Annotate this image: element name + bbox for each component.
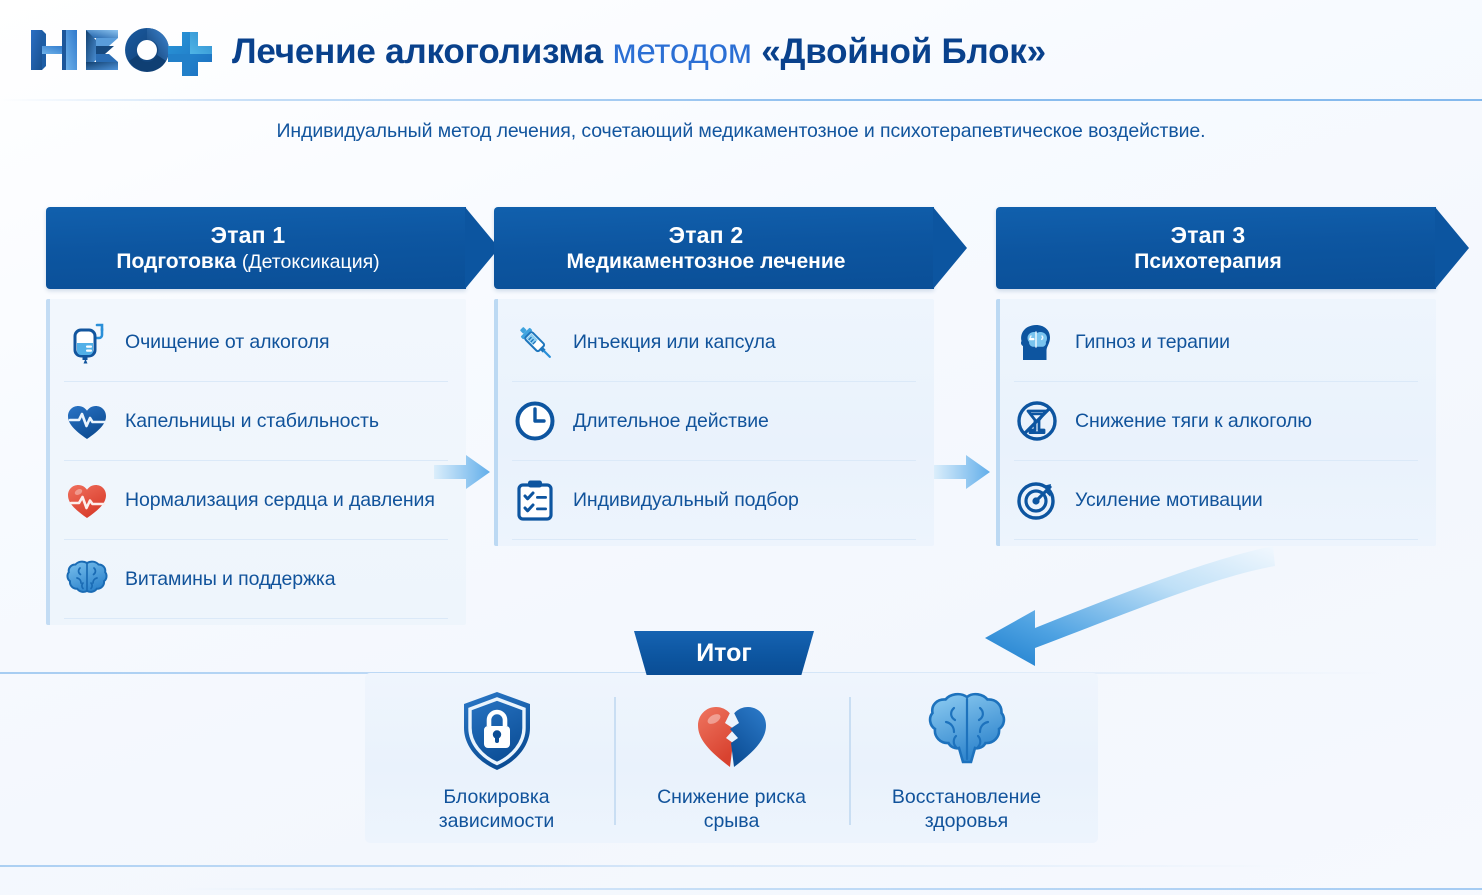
list-item[interactable]: Капельницы и стабильность (64, 382, 448, 461)
list-item-label: Усиление мотивации (1075, 489, 1263, 512)
stage-3-name: Психотерапия (1134, 249, 1281, 274)
list-item-label: Индивидуальный подбор (573, 489, 799, 512)
list-item[interactable]: Гипноз и терапии (1014, 303, 1418, 382)
list-item-label: Очищение от алкоголя (125, 331, 329, 354)
stage-1-name: Подготовка (Детоксикация) (116, 249, 379, 274)
list-item[interactable]: Инъекция или капсула (512, 303, 916, 382)
stage-2-header: Этап 2 Медикаментозное лечение (494, 207, 934, 289)
list-item[interactable]: Индивидуальный подбор (512, 461, 916, 540)
result-item-recovery[interactable]: Восстановление здоровья (849, 689, 1084, 831)
head-brain-icon (1014, 319, 1060, 365)
broken-heart-icon (687, 689, 777, 773)
bottom-divider-line-2 (180, 888, 1482, 890)
list-item[interactable]: Длительное действие (512, 382, 916, 461)
title-part-3: «Двойной Блок» (761, 32, 1046, 71)
clock-icon (512, 398, 558, 444)
list-item[interactable]: Витамины и поддержка (64, 540, 448, 619)
stage-2-number: Этап 2 (669, 222, 744, 248)
brain-icon (64, 556, 110, 602)
list-item-label: Длительное действие (573, 410, 769, 433)
stage-2: Этап 2 Медикаментозное лечение (494, 207, 934, 546)
list-item[interactable]: Нормализация сердца и давления (64, 461, 448, 540)
stages-container: Этап 1 Подготовка (Детоксикация) (0, 207, 1482, 567)
list-item[interactable]: Очищение от алкоголя (64, 303, 448, 382)
clipboard-checklist-icon (512, 477, 558, 523)
heart-pulse-red-icon (64, 477, 110, 523)
list-item-label: Капельницы и стабильность (125, 410, 379, 433)
stage-3-header: Этап 3 Психотерапия (996, 207, 1436, 289)
list-item-label: Гипноз и терапии (1075, 331, 1230, 354)
result-card: Блокировка зависимости Снижение риска ср… (365, 673, 1098, 843)
result-item-label: Блокировка зависимости (439, 785, 555, 834)
bottom-divider-line-1 (0, 865, 1300, 867)
stage-1-name-bold: Подготовка (116, 250, 236, 273)
target-arrow-icon (1014, 477, 1060, 523)
page-header: Лечение алкоголизма методом «Двойной Бло… (0, 0, 1482, 100)
stage-1-number: Этап 1 (211, 222, 286, 248)
result-item-label: Снижение риска срыва (657, 785, 806, 834)
shield-lock-icon (452, 689, 542, 773)
arrow-right-icon (432, 451, 492, 493)
title-part-1: Лечение алкоголизма (232, 32, 603, 71)
page-title: Лечение алкоголизма методом «Двойной Бло… (232, 34, 1046, 69)
stage-2-card: Инъекция или капсула Длительное действие (494, 299, 934, 546)
syringe-icon (512, 319, 558, 365)
neo-plus-logo-icon (26, 24, 212, 76)
stage-2-name: Медикаментозное лечение (567, 249, 846, 274)
result-banner: Итог (634, 631, 814, 675)
iv-drip-bag-icon (64, 319, 110, 365)
stage-2-name-bold: Медикаментозное лечение (567, 250, 846, 273)
title-part-2: методом (612, 32, 751, 71)
list-item-label: Инъекция или капсула (573, 331, 776, 354)
heart-pulse-blue-icon (64, 398, 110, 444)
curved-arrow-left-icon (975, 540, 1275, 675)
arrow-right-icon (932, 451, 992, 493)
list-item-label: Витамины и поддержка (125, 568, 336, 591)
list-item-label: Снижение тяги к алкоголю (1075, 410, 1312, 433)
stage-1-name-light: (Детоксикация) (242, 251, 380, 273)
list-item[interactable]: Снижение тяги к алкоголю (1014, 382, 1418, 461)
stage-1-card: Очищение от алкоголя Капельницы и стабил… (46, 299, 466, 625)
stage-3-name-bold: Психотерапия (1134, 250, 1281, 273)
page-subtitle: Индивидуальный метод лечения, сочетающий… (0, 120, 1482, 143)
result-item-label: Восстановление здоровья (892, 785, 1041, 834)
stage-3-number: Этап 3 (1171, 222, 1246, 248)
list-item[interactable]: Усиление мотивации (1014, 461, 1418, 540)
stage-3-card: Гипноз и терапии Снижение тяги к алкогол… (996, 299, 1436, 546)
stage-3: Этап 3 Психотерапия Гипноз и терапии (996, 207, 1436, 546)
stage-1-header: Этап 1 Подготовка (Детоксикация) (46, 207, 466, 289)
result-item-blocking[interactable]: Блокировка зависимости (379, 689, 614, 831)
list-item-label: Нормализация сердца и давления (125, 489, 435, 512)
stage-1: Этап 1 Подготовка (Детоксикация) (46, 207, 466, 625)
brain-recovery-icon (922, 689, 1012, 773)
result-item-relapse[interactable]: Снижение риска срыва (614, 689, 849, 831)
no-alcohol-glass-icon (1014, 398, 1060, 444)
